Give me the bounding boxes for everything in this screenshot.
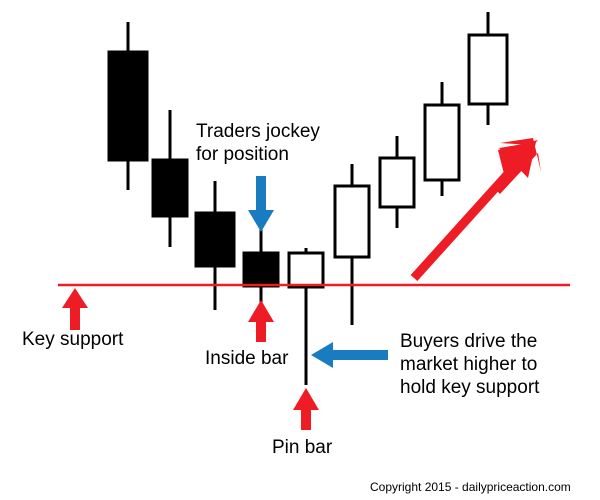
candle-1-bearish: [109, 22, 147, 190]
label-pin-bar: Pin bar: [272, 436, 332, 459]
candle-9-bullish: [469, 12, 507, 125]
chart-svg: [0, 0, 600, 500]
traders-jockey-arrow: [248, 176, 274, 232]
candle-2-bearish: [153, 110, 187, 247]
inside-bar-arrow: [248, 300, 274, 342]
label-key-support: Key support: [22, 328, 123, 351]
candle-5-bullish-pin-bar: [289, 248, 323, 385]
buyers-drive-arrow: [311, 342, 388, 368]
label-buyers-drive: Buyers drive the market higher to hold k…: [400, 330, 539, 399]
candle-7-bullish: [380, 136, 414, 228]
key-support-arrow: [62, 288, 88, 330]
pin-bar-arrow: [293, 388, 319, 430]
candle-6-bullish: [335, 164, 369, 325]
copyright-notice: Copyright 2015 - dailypriceaction.com: [370, 480, 571, 494]
candle-8-bullish: [425, 82, 459, 196]
label-inside-bar: Inside bar: [205, 347, 288, 370]
label-traders-jockey: Traders jockey for position: [196, 120, 320, 166]
candle-3-bearish: [196, 181, 234, 310]
diagram-canvas: Traders jockey for position Key support …: [0, 0, 600, 500]
